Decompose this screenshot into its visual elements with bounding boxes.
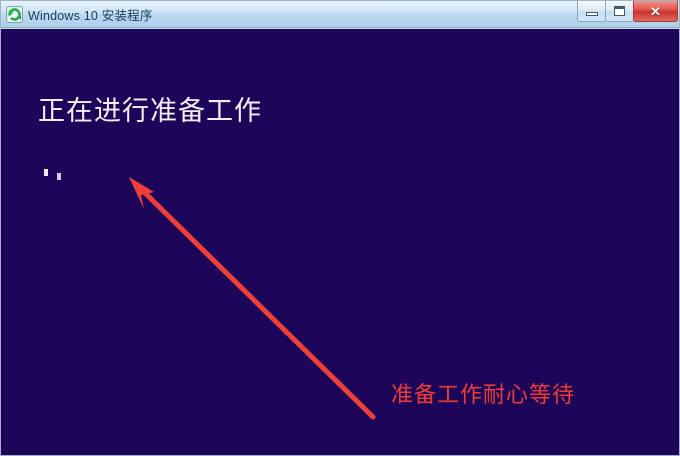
loading-dots-spinner <box>43 168 77 182</box>
spinner-dot <box>57 173 61 180</box>
minimize-button[interactable] <box>577 1 606 22</box>
window-titlebar[interactable]: Windows 10 安装程序 ✕ <box>1 1 679 28</box>
setup-window: Windows 10 安装程序 ✕ 正在进行准备工作 <box>0 0 680 456</box>
annotation-label: 准备工作耐心等待 <box>391 377 575 409</box>
spinner-dot <box>44 169 48 176</box>
screenshot-root: Windows 10 安装程序 ✕ 正在进行准备工作 <box>0 0 680 456</box>
maximize-icon <box>614 6 625 16</box>
close-button[interactable]: ✕ <box>633 1 678 22</box>
minimize-icon <box>586 12 598 16</box>
setup-refresh-icon <box>6 6 23 23</box>
window-controls: ✕ <box>578 1 678 22</box>
window-title-text: Windows 10 安装程序 <box>28 5 153 24</box>
maximize-button[interactable] <box>605 1 634 22</box>
setup-content-area: 正在进行准备工作 准备工作耐心等待 <box>1 29 680 456</box>
setup-status-heading: 正在进行准备工作 <box>38 89 262 128</box>
close-icon: ✕ <box>650 5 661 18</box>
